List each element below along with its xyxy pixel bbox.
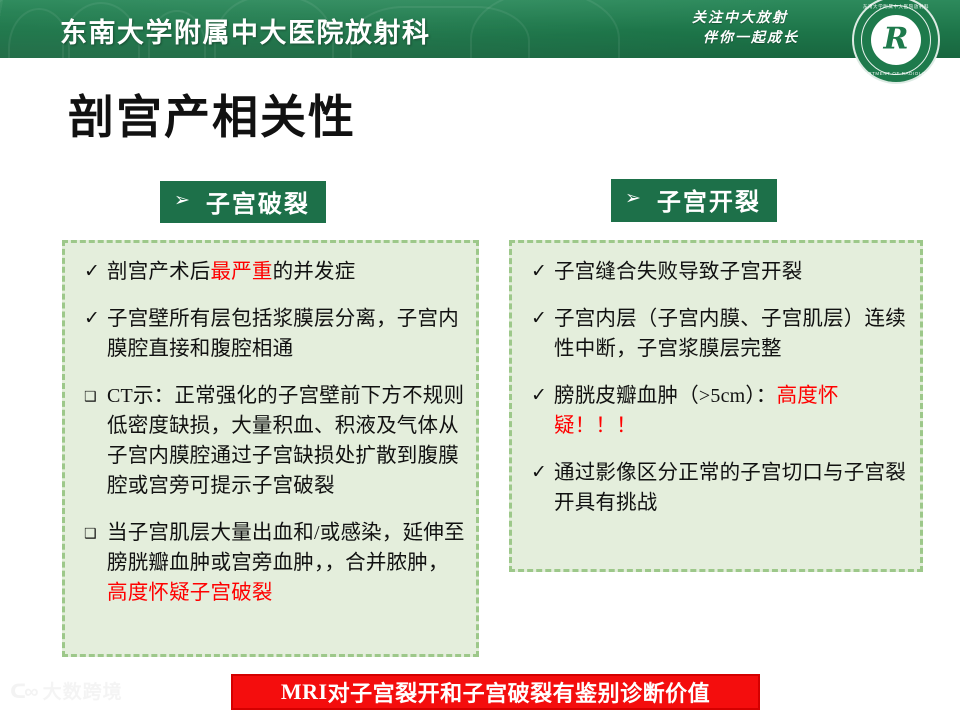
content-box-uterine-rupture: ✓剖宫产术后最严重的并发症✓子宫壁所有层包括浆膜层分离，子宫内膜腔直接和腹腔相通… <box>62 240 479 657</box>
check-bullet-icon: ✓ <box>522 257 554 287</box>
conclusion-banner-text: 对子宫裂开和子宫破裂有鉴别诊断价值 <box>328 676 711 708</box>
bullet-item: ✓子宫缝合失败导致子宫开裂 <box>522 257 910 287</box>
conclusion-banner-prefix: MRI <box>281 679 328 705</box>
bullet-text-run: 子宫缝合失败导致子宫开裂 <box>554 260 802 283</box>
bullet-item: ✓剖宫产术后最严重的并发症 <box>75 257 466 287</box>
bullet-text: CT示：正常强化的子宫壁前下方不规则低密度缺损，大量积血、积液及气体从子宫内膜腔… <box>107 381 466 501</box>
bullet-text-run: CT <box>107 385 133 407</box>
bullet-text: 通过影像区分正常的子宫切口与子宫裂开具有挑战 <box>554 458 910 518</box>
bullet-text-run: >5cm <box>699 385 746 407</box>
bullet-item: ✓子宫壁所有层包括浆膜层分离，子宫内膜腔直接和腹腔相通 <box>75 304 466 364</box>
bullet-text-run: 当子宫肌层大量出血和 <box>107 521 314 544</box>
bullet-text: 子宫缝合失败导致子宫开裂 <box>554 257 910 287</box>
section-heading-label: 子宫破裂 <box>206 184 310 219</box>
logo-disc: R <box>871 15 921 65</box>
slogan-line-2: 伴你一起成长 <box>650 28 830 48</box>
conclusion-banner: MRI对子宫裂开和子宫破裂有鉴别诊断价值 <box>231 674 760 710</box>
bullet-text-run: 通过影像区分正常的子宫切口与子宫裂开具有挑战 <box>554 461 906 514</box>
bullet-text-emphasis: 高度怀疑子宫破裂 <box>107 581 273 604</box>
check-bullet-icon: ✓ <box>522 458 554 488</box>
watermark-label: 大数跨境 <box>43 683 123 702</box>
organization-title: 东南大学附属中大医院放射科 <box>60 11 431 50</box>
bullet-text-run: 子宫内层（子宫内膜、子宫肌层）连续性中断，子宫浆膜层完整 <box>554 307 906 360</box>
section-heading-uterine-rupture: ➢ 子宫破裂 <box>160 181 326 223</box>
bullet-text: 剖宫产术后最严重的并发症 <box>107 257 466 287</box>
bullet-item: ❑CT示：正常强化的子宫壁前下方不规则低密度缺损，大量积血、积液及气体从子宫内膜… <box>75 381 466 501</box>
header-pattern-arch <box>470 0 620 58</box>
check-bullet-icon: ✓ <box>75 257 107 287</box>
arrow-bullet-icon: ➢ <box>174 191 192 210</box>
slogan-line-1: 关注中大放射 <box>650 8 830 28</box>
page-title: 剖宫产相关性 <box>68 92 356 144</box>
bullet-item: ✓子宫内层（子宫内膜、子宫肌层）连续性中断，子宫浆膜层完整 <box>522 304 910 364</box>
square-bullet-icon: ❑ <box>75 381 107 412</box>
header-slogan: 关注中大放射 伴你一起成长 <box>650 8 830 48</box>
bullet-text-run: 示：正常强化的子宫壁前下方不规则低密度缺损，大量积血、积液及气体从子宫内膜腔通过… <box>107 384 464 497</box>
watermark-logo-icon: ᑕ∞ <box>10 682 37 702</box>
bullet-text-emphasis: 最严重 <box>211 260 273 283</box>
bullet-text-run: 剖宫产术后 <box>107 260 211 283</box>
hospital-logo: 东南大学附属中大医院放射科 DEPARTMENT OF RADIOLOGY ZH… <box>852 0 940 84</box>
logo-outer-ring: 东南大学附属中大医院放射科 DEPARTMENT OF RADIOLOGY ZH… <box>852 0 940 84</box>
check-bullet-icon: ✓ <box>522 381 554 411</box>
slide-canvas: 东南大学附属中大医院放射科 关注中大放射 伴你一起成长 东南大学附属中大医院放射… <box>0 0 960 720</box>
bullet-text: 子宫内层（子宫内膜、子宫肌层）连续性中断，子宫浆膜层完整 <box>554 304 910 364</box>
arrow-bullet-icon: ➢ <box>625 189 643 208</box>
check-bullet-icon: ✓ <box>522 304 554 334</box>
section-heading-uterine-dehiscence: ➢ 子宫开裂 <box>611 179 777 222</box>
bullet-text: 膀胱皮瓣血肿（>5cm）：高度怀疑！！！ <box>554 381 910 441</box>
bullet-text-run: 膀胱皮瓣血肿（ <box>554 384 699 407</box>
watermark: ᑕ∞ 大数跨境 <box>10 682 123 702</box>
square-bullet-icon: ❑ <box>75 518 107 549</box>
bullet-item: ✓膀胱皮瓣血肿（>5cm）：高度怀疑！！！ <box>522 381 910 441</box>
check-bullet-icon: ✓ <box>75 304 107 334</box>
bullet-text: 子宫壁所有层包括浆膜层分离，子宫内膜腔直接和腹腔相通 <box>107 304 466 364</box>
bullet-item: ❑当子宫肌层大量出血和/或感染，延伸至膀胱瓣血肿或宫旁血肿，，合并脓肿，高度怀疑… <box>75 518 466 608</box>
bullet-text-run: ）： <box>745 384 776 407</box>
bullet-item: ✓通过影像区分正常的子宫切口与子宫裂开具有挑战 <box>522 458 910 518</box>
bullet-text-run: 的并发症 <box>273 260 356 283</box>
bullet-text-run: 子宫壁所有层包括浆膜层分离，子宫内膜腔直接和腹腔相通 <box>107 307 459 360</box>
logo-monogram-icon: R <box>871 24 921 54</box>
bullet-text: 当子宫肌层大量出血和/或感染，延伸至膀胱瓣血肿或宫旁血肿，，合并脓肿，高度怀疑子… <box>107 518 466 608</box>
section-heading-label: 子宫开裂 <box>657 182 761 217</box>
content-box-uterine-dehiscence: ✓子宫缝合失败导致子宫开裂✓子宫内层（子宫内膜、子宫肌层）连续性中断，子宫浆膜层… <box>509 240 923 572</box>
